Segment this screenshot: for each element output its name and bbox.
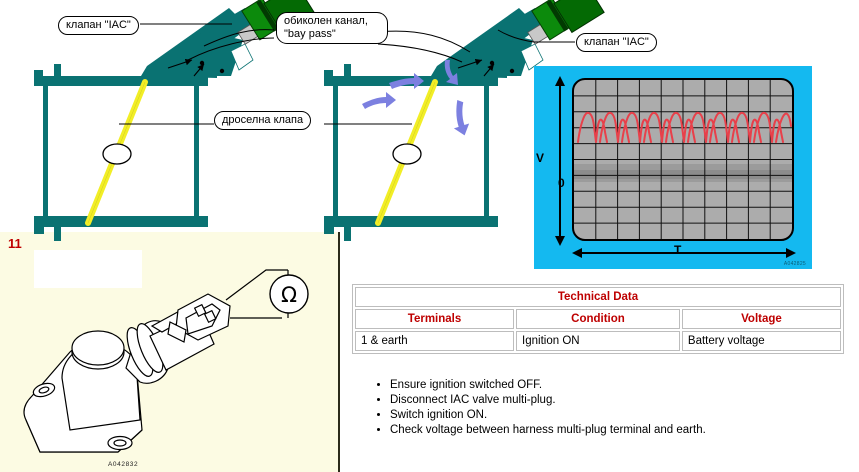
table-row-header: Terminals Condition Voltage — [355, 309, 841, 329]
list-item: Disconnect IAC valve multi-plug. — [390, 393, 838, 408]
table-row-title: Technical Data — [355, 287, 841, 307]
oscilloscope-panel: V 0 — [534, 66, 812, 269]
col-header-condition: Condition — [516, 309, 680, 329]
callout-iac-valve-right: клапан "IAC" — [576, 33, 657, 52]
callout-iac-valve-left: клапан "IAC" — [58, 16, 139, 35]
scope-t-label: T — [674, 243, 681, 257]
col-header-voltage: Voltage — [682, 309, 841, 329]
iac-valve-illustration — [24, 270, 288, 452]
list-item: Check voltage between harness multi-plug… — [390, 423, 838, 438]
scope-v-label: V — [536, 151, 544, 165]
col-header-terminals: Terminals — [355, 309, 514, 329]
figure-page: 11 — [0, 0, 859, 472]
procedure-steps: Ensure ignition switched OFF. Disconnect… — [368, 378, 838, 438]
ohmmeter-icon: Ω — [270, 275, 308, 313]
table-row: 1 & earth Ignition ON Battery voltage — [355, 331, 841, 351]
svg-text:Ω: Ω — [281, 283, 297, 307]
cell-terminals: 1 & earth — [355, 331, 514, 351]
scope-zero-label: 0 — [558, 176, 565, 190]
cell-condition: Ignition ON — [516, 331, 680, 351]
callout-bypass-channel: обиколен канал, "bay pass" — [276, 12, 388, 44]
voltage-axis-arrow — [550, 76, 570, 246]
cell-voltage: Battery voltage — [682, 331, 841, 351]
technical-data-table: Technical Data Terminals Condition Volta… — [352, 284, 844, 354]
figure-number: 11 — [8, 236, 22, 251]
part-code-label: A042832 — [108, 461, 138, 468]
scope-screen — [572, 78, 794, 241]
scope-corner-code: A042825 — [784, 261, 806, 267]
list-item: Ensure ignition switched OFF. — [390, 378, 838, 393]
scope-grid-and-trace — [574, 80, 792, 239]
label-backdrop — [34, 250, 142, 288]
list-item: Switch ignition ON. — [390, 408, 838, 423]
table-title: Technical Data — [355, 287, 841, 307]
time-axis-arrow — [572, 246, 796, 260]
callout-throttle-plate: дроселна клапа — [214, 111, 311, 130]
